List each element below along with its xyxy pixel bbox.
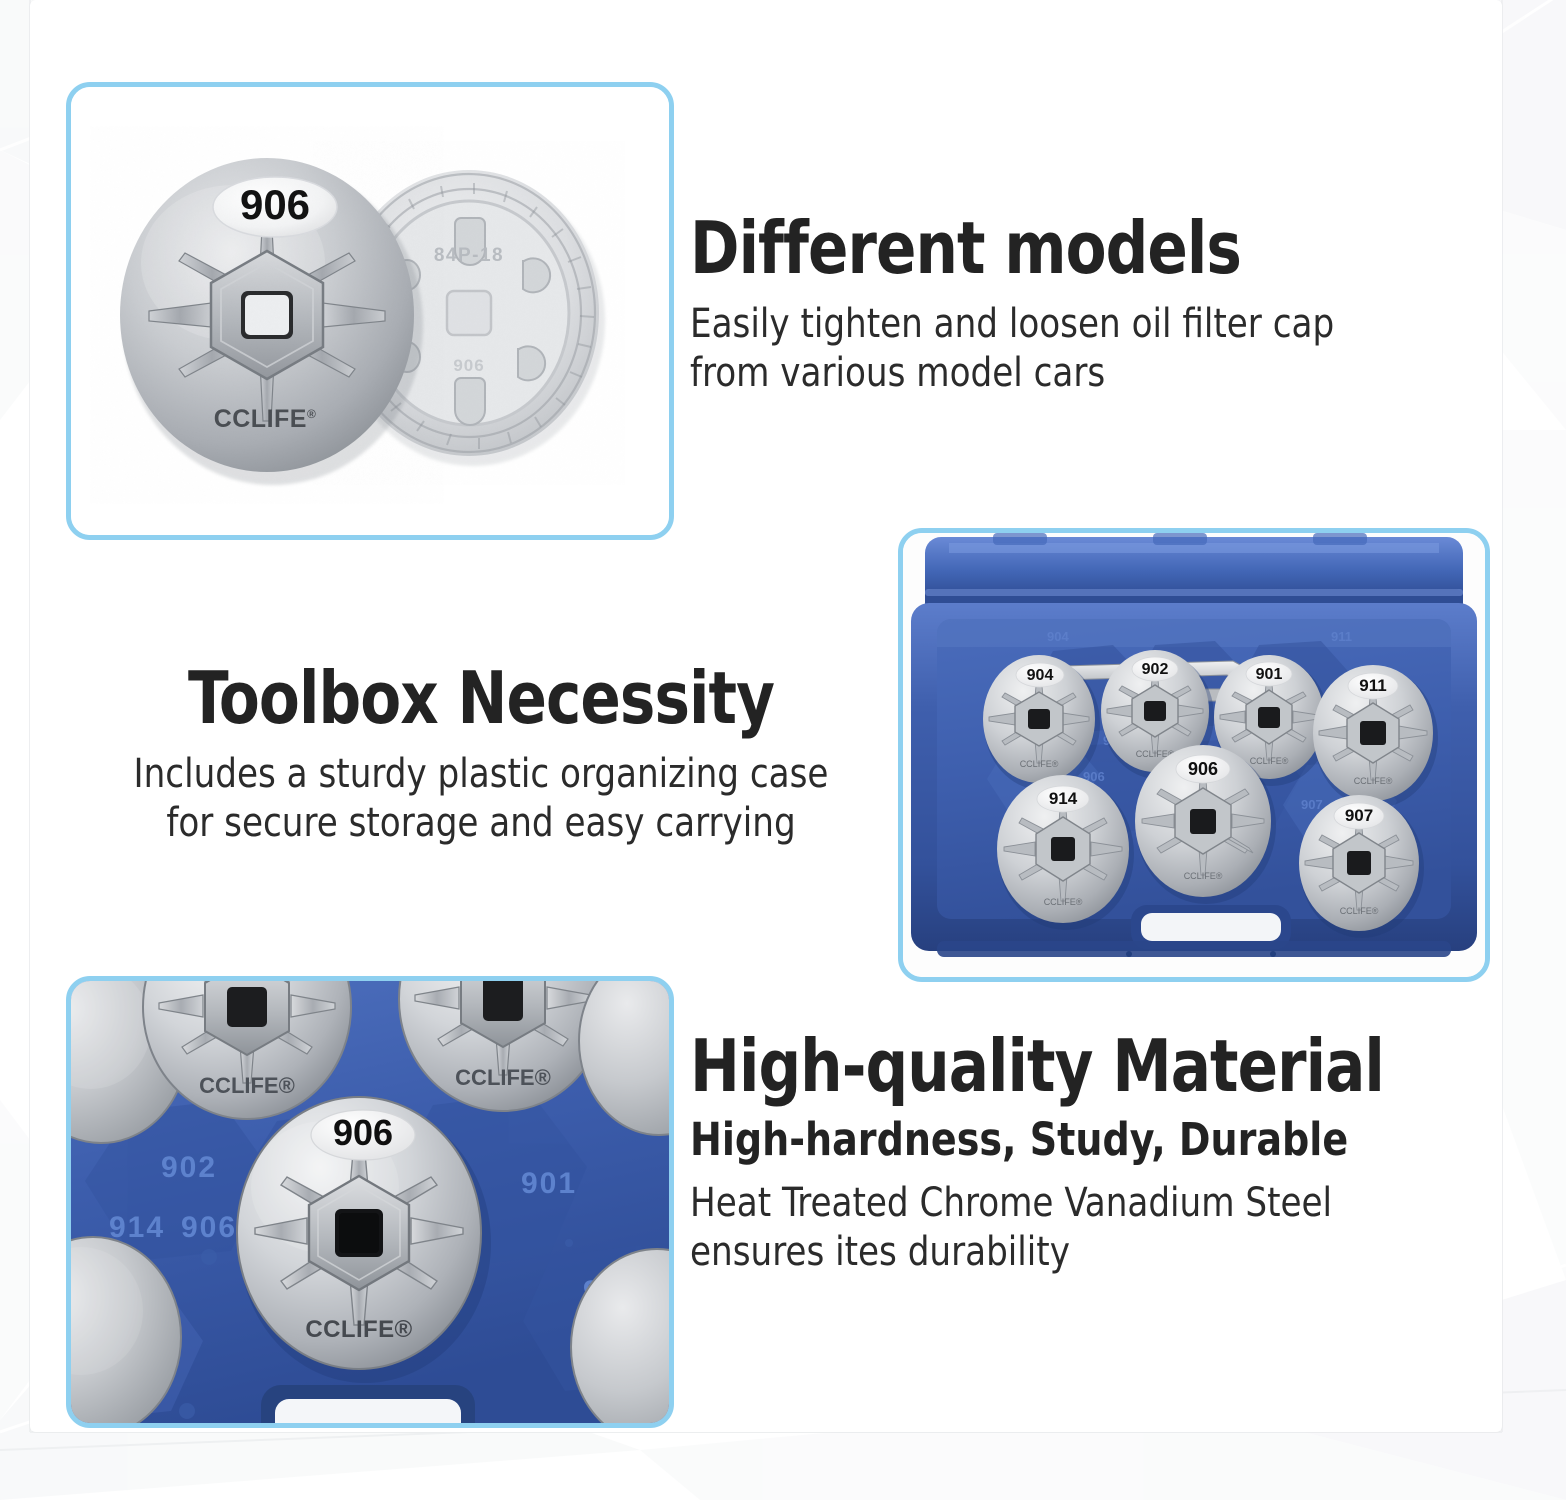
svg-text:CCLIFE®: CCLIFE®: [1184, 871, 1223, 881]
heading-toolbox-necessity: Toolbox Necessity: [108, 662, 853, 734]
photo-card-high-quality-material: 902 914 906 901 907: [66, 976, 674, 1428]
body-line-1: Includes a sturdy plastic organizing cas…: [96, 750, 866, 799]
body-line-1: Easily tighten and loosen oil filter cap: [690, 300, 1450, 349]
text-block-high-quality-material: High-quality Material High-hardness, Stu…: [690, 1030, 1490, 1277]
svg-text:914: 914: [1049, 789, 1078, 808]
photo-card-different-models: 84P-18 906: [66, 82, 674, 540]
body-high-quality-material: Heat Treated Chrome Vanadium Steel ensur…: [690, 1179, 1450, 1277]
case-label-902-closeup: 902: [161, 1151, 217, 1184]
svg-text:902: 902: [1142, 661, 1169, 678]
svg-text:904: 904: [1027, 667, 1054, 684]
svg-text:906: 906: [333, 1112, 393, 1153]
case-label-901-closeup: 901: [521, 1167, 577, 1200]
case-label-904: 904: [1047, 629, 1069, 644]
cap-brand-902: CCLIFE®: [199, 1073, 295, 1098]
case-label-906-closeup: 906: [181, 1211, 237, 1244]
photo-card-toolbox: 904 902 914 906 901 911 907: [898, 528, 1490, 982]
body-line-1: Heat Treated Chrome Vanadium Steel: [690, 1179, 1450, 1228]
svg-text:906: 906: [1188, 759, 1218, 779]
photo-toolbox-case-with-caps: 904 902 914 906 901 911 907: [903, 533, 1485, 977]
cap-brand-901: CCLIFE®: [455, 1065, 551, 1090]
heading-high-quality-material: High-quality Material: [690, 1030, 1426, 1102]
cap-brand-906-featured: CCLIFE®: [305, 1316, 412, 1343]
svg-text:907: 907: [1345, 806, 1373, 825]
body-line-2: for secure storage and easy carrying: [96, 799, 866, 848]
case-label-907: 907: [1301, 797, 1323, 812]
subheading-high-hardness: High-hardness, Study, Durable: [690, 1116, 1442, 1163]
svg-text:CCLIFE®: CCLIFE®: [1354, 776, 1393, 786]
heading-different-models: Different models: [690, 212, 1426, 284]
svg-text:CCLIFE®: CCLIFE®: [1020, 759, 1059, 769]
body-different-models: Easily tighten and loosen oil filter cap…: [690, 300, 1450, 398]
case-label-914-closeup: 914: [109, 1211, 165, 1244]
text-block-toolbox-necessity: Toolbox Necessity Includes a sturdy plas…: [76, 662, 886, 848]
photo-two-oil-filter-caps: 84P-18 906: [71, 87, 669, 535]
svg-text:901: 901: [1256, 666, 1283, 683]
svg-text:CCLIFE®: CCLIFE®: [1340, 906, 1379, 916]
body-toolbox-necessity: Includes a sturdy plastic organizing cas…: [96, 750, 866, 848]
svg-text:CCLIFE®: CCLIFE®: [1044, 897, 1083, 907]
cap-label-906-featured: 906: [311, 1110, 415, 1160]
text-block-different-models: Different models Easily tighten and loos…: [690, 212, 1490, 398]
case-label-911: 911: [1331, 629, 1352, 644]
photo-closeup-caps-in-case: 902 914 906 901 907: [71, 981, 669, 1423]
svg-text:CCLIFE®: CCLIFE®: [1250, 756, 1289, 766]
svg-text:911: 911: [1359, 676, 1386, 695]
body-line-2: from various model cars: [690, 349, 1450, 398]
body-line-2: ensures ites durability: [690, 1228, 1450, 1277]
